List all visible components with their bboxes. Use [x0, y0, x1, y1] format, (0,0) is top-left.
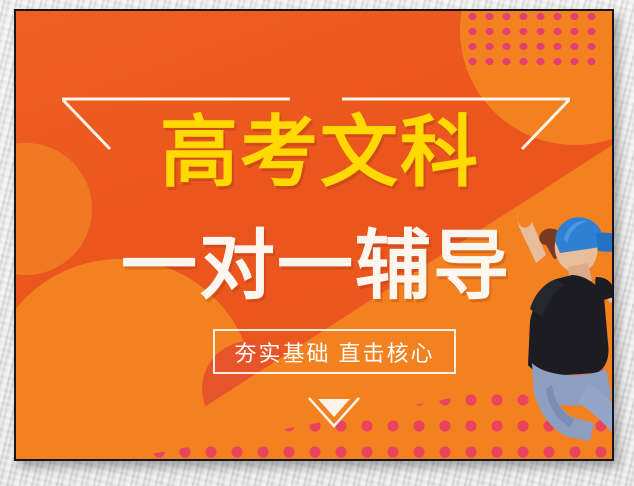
- headline-primary: 高考文科: [22, 113, 614, 191]
- poster-canvas: 高考文科 一对一辅导 夯实基础 直击核心: [14, 9, 614, 461]
- subtitle-box: 夯实基础 直击核心: [213, 329, 456, 374]
- subtitle-text: 夯实基础 直击核心: [234, 336, 434, 368]
- jumping-student-illustration: [484, 197, 614, 461]
- dot-grid-top: [464, 9, 600, 67]
- chevron-down-icon: [306, 396, 362, 430]
